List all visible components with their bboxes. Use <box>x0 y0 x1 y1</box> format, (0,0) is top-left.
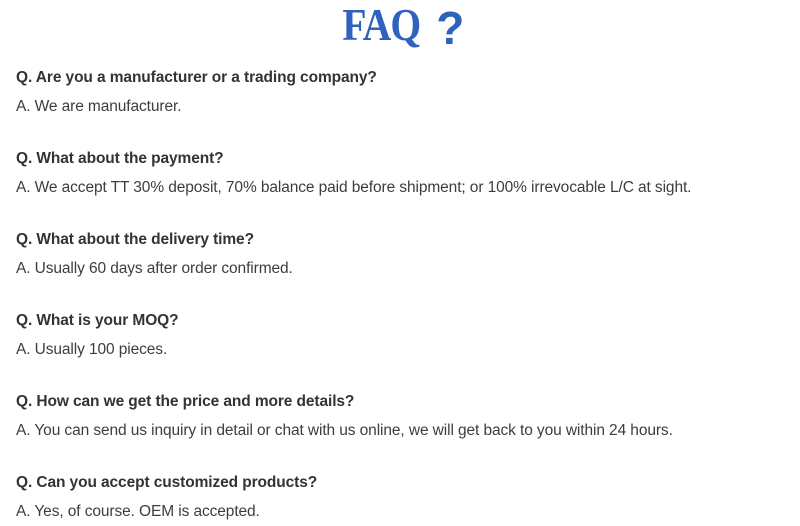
faq-question: Q. Can you accept customized products? <box>16 468 790 497</box>
faq-title-text: FAQ <box>342 2 420 48</box>
faq-question: Q. How can we get the price and more det… <box>16 387 790 416</box>
faq-item: Q. Are you a manufacturer or a trading c… <box>16 63 790 121</box>
faq-item: Q. What about the payment? A. We accept … <box>16 144 790 202</box>
faq-item: Q. How can we get the price and more det… <box>16 387 790 445</box>
faq-question: Q. What about the payment? <box>16 144 790 173</box>
faq-list: Q. Are you a manufacturer or a trading c… <box>0 63 800 526</box>
faq-item: Q. What is your MOQ? A. Usually 100 piec… <box>16 306 790 364</box>
faq-question: Q. Are you a manufacturer or a trading c… <box>16 63 790 92</box>
faq-answer: A. You can send us inquiry in detail or … <box>16 416 790 445</box>
faq-item: Q. Can you accept customized products? A… <box>16 468 790 526</box>
faq-answer: A. Usually 60 days after order confirmed… <box>16 254 790 283</box>
faq-answer: A. Yes, of course. OEM is accepted. <box>16 497 790 526</box>
faq-answer: A. We accept TT 30% deposit, 70% balance… <box>16 173 790 202</box>
question-mark-icon: ? <box>436 5 464 51</box>
faq-question: Q. What is your MOQ? <box>16 306 790 335</box>
page-title: FAQ? <box>0 0 800 48</box>
faq-question: Q. What about the delivery time? <box>16 225 790 254</box>
faq-answer: A. We are manufacturer. <box>16 92 790 121</box>
faq-page: FAQ? Q. Are you a manufacturer or a trad… <box>0 0 800 525</box>
faq-answer: A. Usually 100 pieces. <box>16 335 790 364</box>
faq-item: Q. What about the delivery time? A. Usua… <box>16 225 790 283</box>
